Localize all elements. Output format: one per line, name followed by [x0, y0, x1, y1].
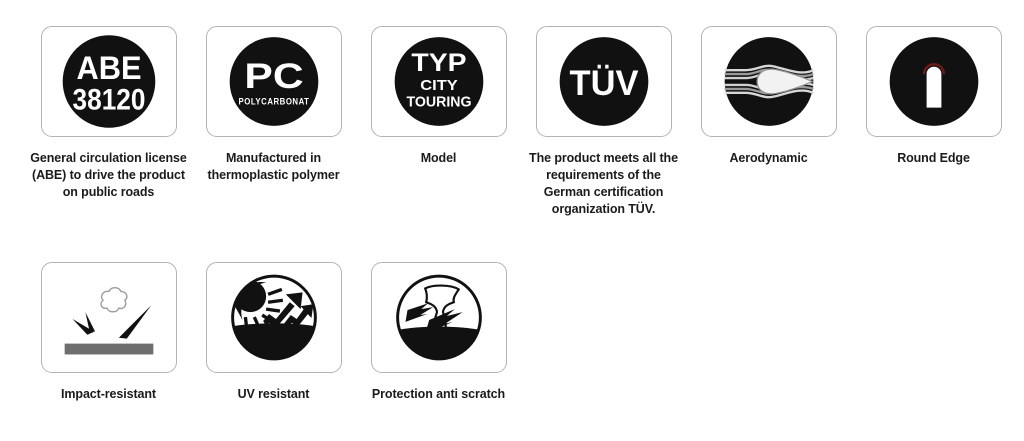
feature-abe: ABE 38120 General circulation license (A… — [26, 26, 191, 201]
feature-row-bottom: Impact-resistant — [0, 262, 1024, 403]
model-badge-primary-text: TYP — [411, 50, 466, 77]
badge-card-anti-scratch — [371, 262, 507, 373]
uv-resistant-badge-icon — [207, 262, 341, 373]
badge-card-model: TYP CITY TOURING — [371, 26, 507, 137]
pc-badge-secondary-text: POLYCARBONAT — [238, 97, 309, 107]
impact-resistant-badge-icon — [42, 262, 176, 373]
feature-label-aerodynamic: Aerodynamic — [690, 150, 848, 167]
tuv-certification-badge-icon: TÜV — [537, 26, 671, 137]
abe-badge-primary-text: ABE — [76, 50, 141, 86]
badge-card-impact-resistant — [41, 262, 177, 373]
feature-impact-resistant: Impact-resistant — [26, 262, 191, 403]
feature-anti-scratch: Protection anti scratch — [356, 262, 521, 403]
abe-approval-badge-icon: ABE 38120 — [42, 26, 176, 137]
model-badge-tertiary-text: TOURING — [406, 95, 471, 111]
model-badge-secondary-text: CITY — [420, 78, 458, 94]
product-feature-badges-sheet: ABE 38120 General circulation license (A… — [0, 0, 1024, 441]
feature-model: TYP CITY TOURING Model — [356, 26, 521, 167]
badge-card-round-edge — [866, 26, 1002, 137]
feature-round-edge: Round Edge — [851, 26, 1016, 167]
pc-badge-primary-text: PC — [244, 56, 303, 96]
feature-label-uv-resistant: UV resistant — [195, 386, 353, 403]
aerodynamic-airfoil-badge-icon — [702, 26, 836, 137]
feature-uv-resistant: UV resistant — [191, 262, 356, 403]
feature-row-top: ABE 38120 General circulation license (A… — [0, 26, 1024, 218]
anti-scratch-badge-icon — [372, 262, 506, 373]
feature-label-model: Model — [360, 150, 518, 167]
abe-badge-secondary-text: 38120 — [72, 84, 145, 117]
feature-tuv: TÜV The product meets all the requiremen… — [521, 26, 686, 218]
badge-card-polycarbonate: PC POLYCARBONAT — [206, 26, 342, 137]
impact-surface-bar — [64, 344, 153, 355]
badge-card-aerodynamic — [701, 26, 837, 137]
feature-label-tuv: The product meets all the requirements o… — [525, 150, 683, 218]
round-edge-badge-icon — [867, 26, 1001, 137]
badge-card-uv-resistant — [206, 262, 342, 373]
feature-label-anti-scratch: Protection anti scratch — [360, 386, 518, 403]
feature-aerodynamic: Aerodynamic — [686, 26, 851, 167]
feature-label-abe: General circulation license (ABE) to dri… — [30, 150, 188, 201]
badge-card-abe: ABE 38120 — [41, 26, 177, 137]
tuv-badge-primary-text: TÜV — [569, 63, 638, 103]
polycarbonate-material-badge-icon: PC POLYCARBONAT — [207, 26, 341, 137]
badge-card-tuv: TÜV — [536, 26, 672, 137]
model-type-badge-icon: TYP CITY TOURING — [372, 26, 506, 137]
feature-polycarbonate: PC POLYCARBONAT Manufactured in thermopl… — [191, 26, 356, 184]
feature-label-round-edge: Round Edge — [855, 150, 1013, 167]
feature-label-impact-resistant: Impact-resistant — [30, 386, 188, 403]
feature-label-polycarbonate: Manufactured in thermoplastic polymer — [195, 150, 353, 184]
